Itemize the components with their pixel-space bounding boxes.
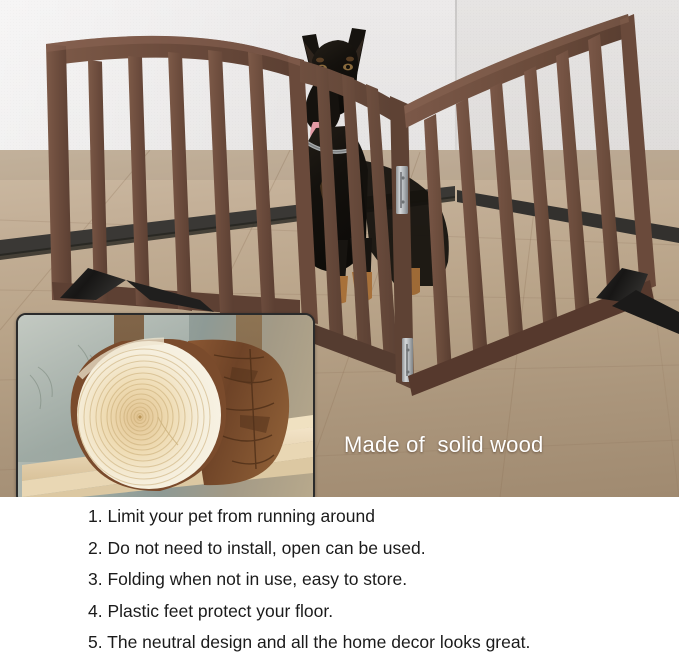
- headline-made-of-solid-wood: Made of solid wood: [344, 432, 543, 458]
- feature-item-5: 5. The neutral design and all the home d…: [88, 634, 668, 652]
- inset-log-illustration: [18, 315, 313, 497]
- feature-item-3: 3. Folding when not in use, easy to stor…: [88, 571, 668, 589]
- product-marketing-image: Made of solid wood: [0, 0, 679, 669]
- gate-panel-right: [404, 14, 656, 396]
- feature-item-1: 1. Limit your pet from running around: [88, 508, 668, 526]
- hero-photo: Made of solid wood: [0, 0, 679, 497]
- hinge-top: [396, 166, 408, 214]
- inset-log-photo: [16, 313, 315, 497]
- feature-list: 1. Limit your pet from running around 2.…: [88, 508, 668, 652]
- feature-item-4: 4. Plastic feet protect your floor.: [88, 603, 668, 621]
- feature-item-2: 2. Do not need to install, open can be u…: [88, 540, 668, 558]
